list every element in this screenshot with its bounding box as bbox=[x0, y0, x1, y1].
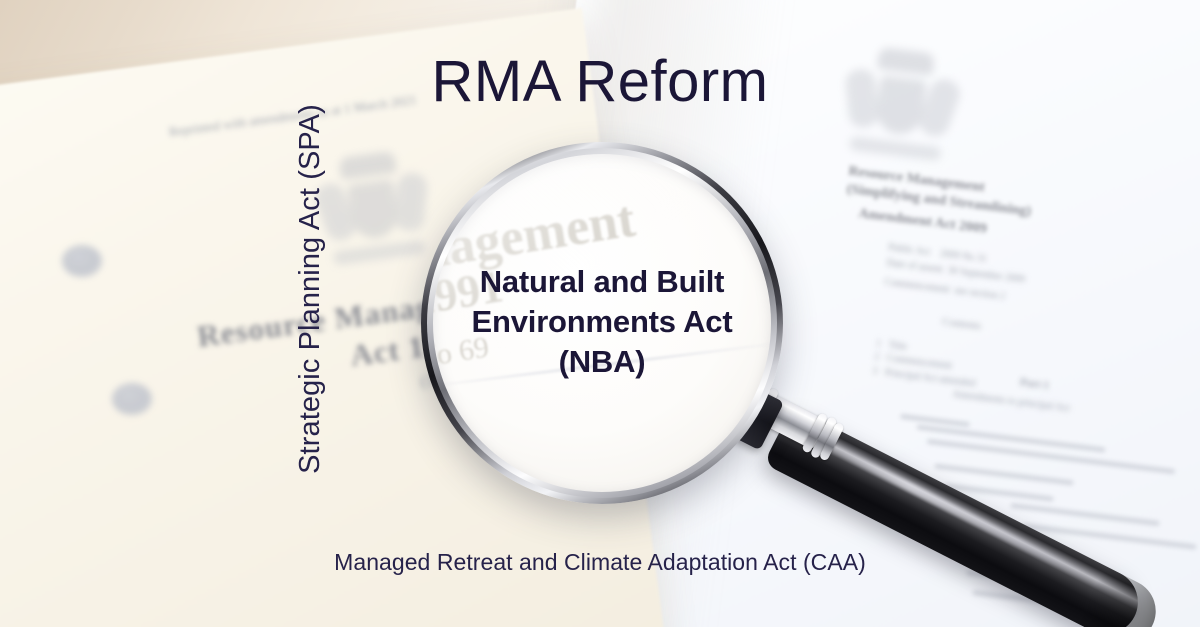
lens-label: Natural and Built Environments Act (NBA) bbox=[441, 262, 763, 382]
caption: Managed Retreat and Climate Adaptation A… bbox=[0, 549, 1200, 576]
lens-label-line-2: Environments Act bbox=[441, 302, 763, 342]
lens-label-line-1: Natural and Built bbox=[441, 262, 763, 302]
lens-label-line-3: (NBA) bbox=[441, 342, 763, 382]
poster-canvas: Reprinted with amendments as at 1 March … bbox=[0, 0, 1200, 627]
side-label: Strategic Planning Act (SPA) bbox=[282, 79, 338, 499]
page-title: RMA Reform bbox=[0, 48, 1200, 115]
side-label-container: Strategic Planning Act (SPA) bbox=[118, 155, 174, 575]
